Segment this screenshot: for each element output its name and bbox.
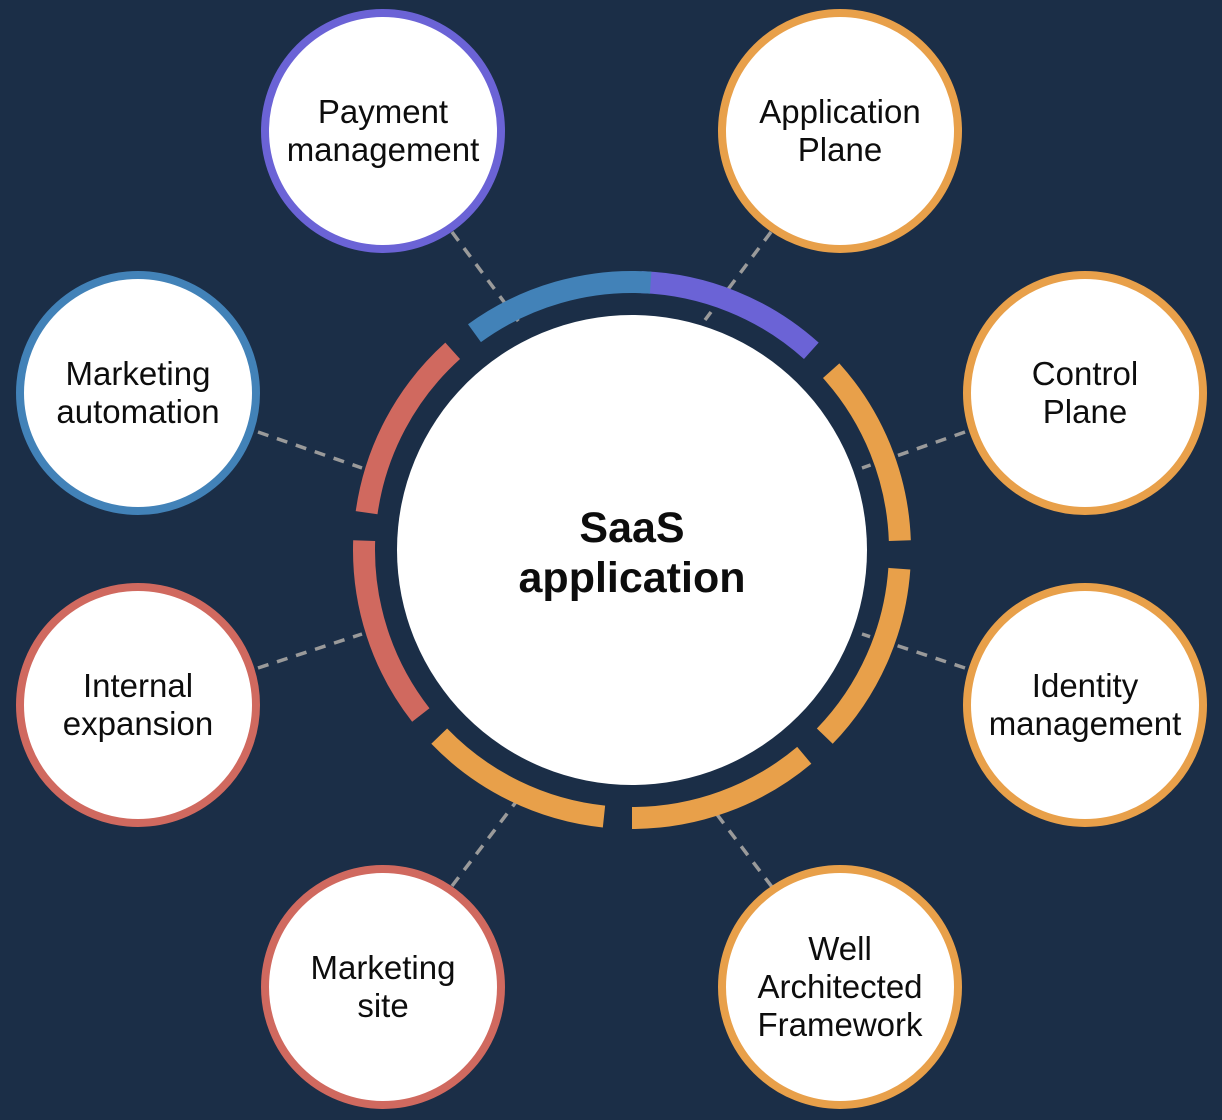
- node-label-application-plane-line-2: Plane: [798, 131, 882, 168]
- node-control-plane[interactable]: ControlPlane: [967, 275, 1203, 511]
- node-label-payment-management-line-2: management: [287, 131, 480, 168]
- node-well-architected-framework[interactable]: WellArchitectedFramework: [722, 869, 958, 1105]
- center-title-line-1: SaaS: [579, 504, 684, 552]
- diagram-canvas: SaaS application PaymentmanagementApplic…: [0, 0, 1222, 1120]
- saas-application-hub-diagram: SaaS application PaymentmanagementApplic…: [0, 0, 1222, 1120]
- node-label-identity-management-line-2: management: [989, 705, 1182, 742]
- node-identity-management[interactable]: Identitymanagement: [967, 587, 1203, 823]
- node-label-internal-expansion-line-2: expansion: [63, 705, 213, 742]
- node-label-well-architected-framework-line-3: Framework: [757, 1006, 923, 1043]
- node-payment-management[interactable]: Paymentmanagement: [265, 13, 501, 249]
- node-marketing-automation[interactable]: Marketingautomation: [20, 275, 256, 511]
- node-label-control-plane-line-1: Control: [1032, 355, 1138, 392]
- node-label-control-plane-line-2: Plane: [1043, 393, 1127, 430]
- node-label-marketing-automation-line-1: Marketing: [66, 355, 211, 392]
- node-label-internal-expansion-line-1: Internal: [83, 667, 193, 704]
- node-application-plane[interactable]: ApplicationPlane: [722, 13, 958, 249]
- node-label-payment-management-line-1: Payment: [318, 93, 448, 130]
- center-hub-group: SaaS application: [397, 315, 867, 785]
- node-label-identity-management-line-1: Identity: [1032, 667, 1139, 704]
- node-label-well-architected-framework-line-2: Architected: [757, 968, 922, 1005]
- node-internal-expansion[interactable]: Internalexpansion: [20, 587, 256, 823]
- center-title-line-2: application: [519, 554, 746, 602]
- node-label-marketing-site-line-1: Marketing: [311, 949, 456, 986]
- node-label-marketing-site-line-2: site: [357, 987, 408, 1024]
- node-label-application-plane-line-1: Application: [759, 93, 920, 130]
- node-marketing-site[interactable]: Marketingsite: [265, 869, 501, 1105]
- node-label-marketing-automation-line-2: automation: [56, 393, 219, 430]
- node-label-well-architected-framework-line-1: Well: [808, 930, 872, 967]
